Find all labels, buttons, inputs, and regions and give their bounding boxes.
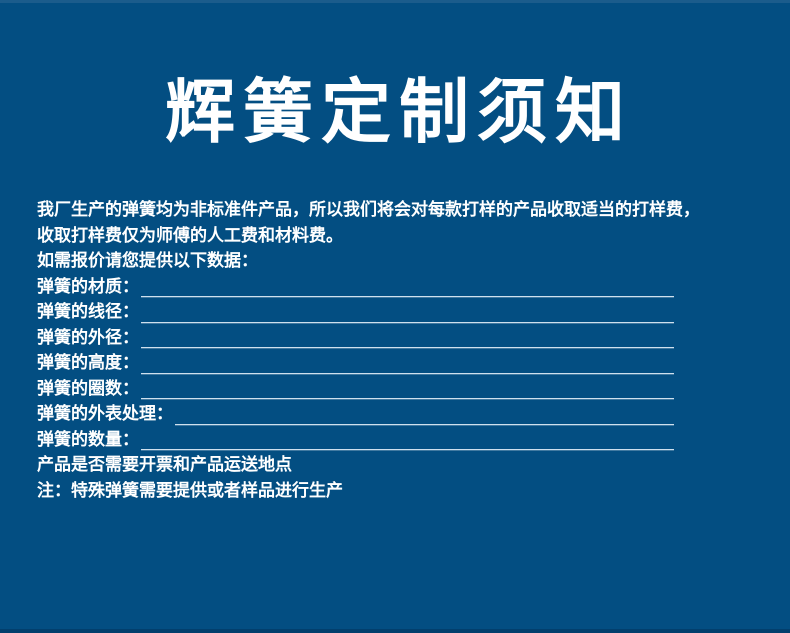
field-rule-coil-count[interactable] bbox=[141, 398, 674, 399]
note-invoice-shipping: 产品是否需要开票和产品运送地点 bbox=[37, 453, 757, 479]
intro-paragraph: 我厂生产的弹簧均为非标准件产品，所以我们将会对每款打样的产品收取适当的打样费， … bbox=[37, 198, 759, 249]
field-row-wire-diameter: 弹簧的线径： bbox=[37, 300, 674, 326]
field-label-height: 弹簧的高度： bbox=[37, 351, 139, 377]
banner-body: 我厂生产的弹簧均为非标准件产品，所以我们将会对每款打样的产品收取适当的打样费， … bbox=[37, 198, 757, 504]
field-label-material: 弹簧的材质： bbox=[37, 275, 139, 301]
field-label-quantity: 弹簧的数量： bbox=[37, 428, 139, 454]
banner-bottom-edge bbox=[0, 629, 790, 633]
spring-spec-field-list: 弹簧的材质： 弹簧的线径： 弹簧的外径： 弹簧的高度： 弹簧的圈数： 弹簧的外表 bbox=[37, 275, 757, 454]
field-label-wire-diameter: 弹簧的线径： bbox=[37, 300, 139, 326]
banner-top-edge bbox=[0, 0, 790, 3]
note-special-spring: 注：特殊弹簧需要提供或者样品进行生产 bbox=[37, 479, 757, 505]
intro-paragraph-line-2: 收取打样费仅为师傅的人工费和材料费。 bbox=[37, 224, 759, 250]
field-label-surface-treatment: 弹簧的外表处理： bbox=[37, 402, 173, 428]
field-row-quantity: 弹簧的数量： bbox=[37, 428, 674, 454]
intro-paragraph-line-1: 我厂生产的弹簧均为非标准件产品，所以我们将会对每款打样的产品收取适当的打样费， bbox=[37, 198, 759, 224]
field-rule-wire-diameter[interactable] bbox=[141, 322, 674, 323]
field-label-coil-count: 弹簧的圈数： bbox=[37, 377, 139, 403]
page-title: 辉簧定制须知 bbox=[0, 69, 790, 155]
field-row-coil-count: 弹簧的圈数： bbox=[37, 377, 674, 403]
field-rule-surface-treatment[interactable] bbox=[175, 424, 674, 425]
field-row-outer-diameter: 弹簧的外径： bbox=[37, 326, 674, 352]
field-rule-material[interactable] bbox=[141, 296, 674, 297]
field-rule-height[interactable] bbox=[141, 373, 674, 374]
field-row-height: 弹簧的高度： bbox=[37, 351, 674, 377]
field-rule-outer-diameter[interactable] bbox=[141, 347, 674, 348]
data-request-prompt: 如需报价请您提供以下数据： bbox=[37, 249, 757, 275]
field-row-material: 弹簧的材质： bbox=[37, 275, 674, 301]
field-rule-quantity[interactable] bbox=[141, 449, 674, 450]
field-label-outer-diameter: 弹簧的外径： bbox=[37, 326, 139, 352]
field-row-surface-treatment: 弹簧的外表处理： bbox=[37, 402, 674, 428]
promo-banner: 辉簧定制须知 我厂生产的弹簧均为非标准件产品，所以我们将会对每款打样的产品收取适… bbox=[0, 0, 790, 633]
